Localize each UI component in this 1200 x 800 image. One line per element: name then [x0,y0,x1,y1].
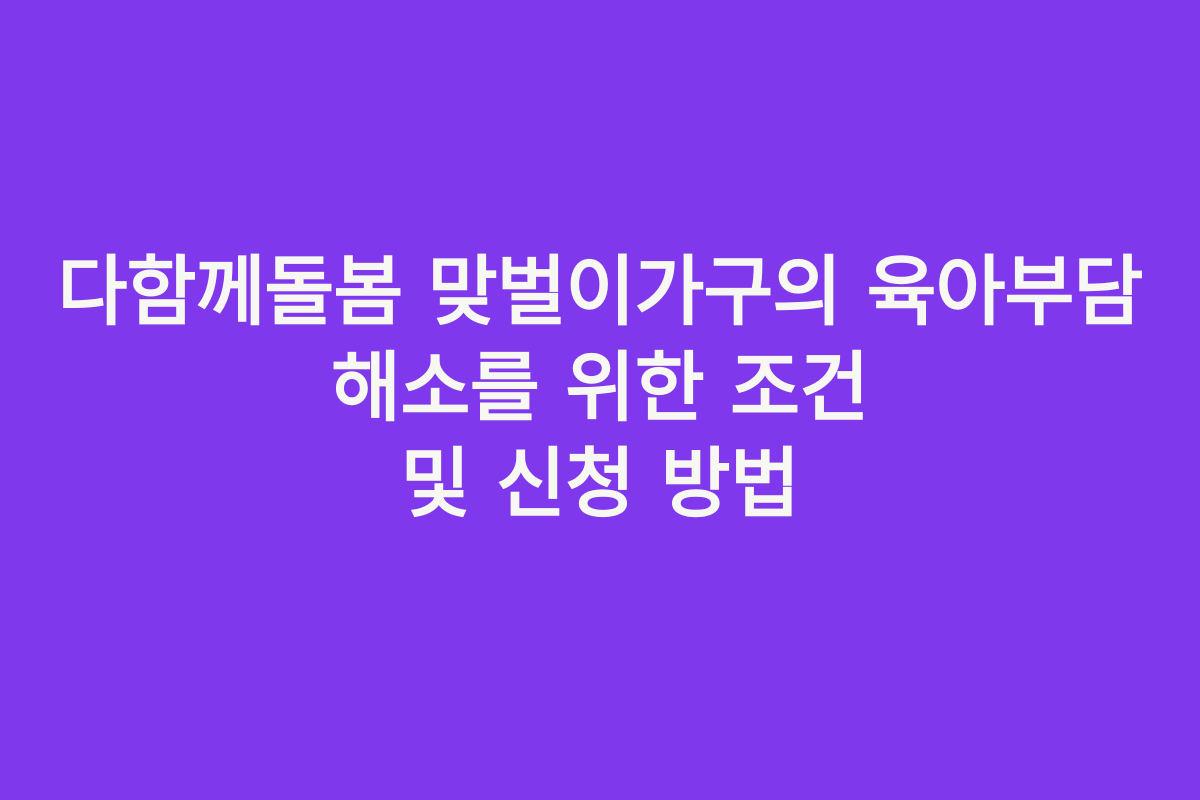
headline-line-1: 다함께돌봄 맞벌이가구의 육아부담 [20,244,1180,340]
headline-line-3: 및 신청 방법 [20,436,1180,532]
headline-line-2: 해소를 위한 조건 [20,340,1180,436]
page-title: 다함께돌봄 맞벌이가구의 육아부담 해소를 위한 조건 및 신청 방법 [20,244,1180,532]
banner-canvas: 다함께돌봄 맞벌이가구의 육아부담 해소를 위한 조건 및 신청 방법 [0,0,1200,800]
